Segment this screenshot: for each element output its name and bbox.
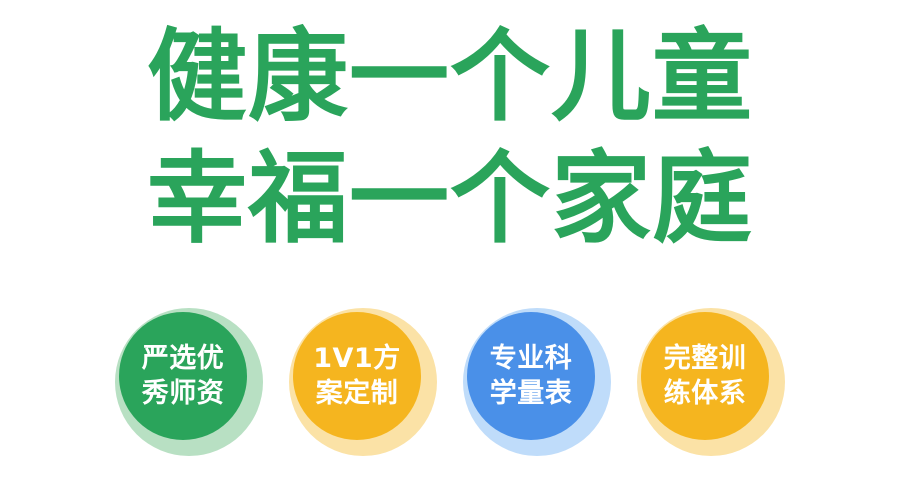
badge-label-plan: 1V1方 案定制 bbox=[313, 341, 400, 411]
feature-badge-row: 严选优 秀师资 1V1方 案定制 专业科 学量表 bbox=[0, 308, 900, 464]
badge-scale[interactable]: 专业科 学量表 bbox=[463, 308, 611, 456]
promo-banner: 健康一个儿童 幸福一个家庭 严选优 秀师资 1V1方 案定制 bbox=[0, 0, 900, 504]
badge-teachers[interactable]: 严选优 秀师资 bbox=[115, 308, 263, 456]
badge-label-teachers-line-1: 严选优 bbox=[142, 341, 225, 376]
badge-disc-scale: 专业科 学量表 bbox=[467, 312, 595, 440]
badge-disc-training: 完整训 练体系 bbox=[641, 312, 769, 440]
badge-label-training-line-2: 练体系 bbox=[664, 376, 747, 411]
badge-training[interactable]: 完整训 练体系 bbox=[637, 308, 785, 456]
badge-label-training-line-1: 完整训 bbox=[664, 341, 747, 376]
badge-label-teachers-line-2: 秀师资 bbox=[142, 376, 225, 411]
headline-line-2: 幸福一个家庭 bbox=[0, 140, 900, 258]
badge-label-plan-line-2: 案定制 bbox=[313, 376, 400, 411]
badge-plan[interactable]: 1V1方 案定制 bbox=[289, 308, 437, 456]
badge-disc-plan: 1V1方 案定制 bbox=[293, 312, 421, 440]
badge-label-plan-line-1: 1V1方 bbox=[313, 341, 400, 376]
badge-label-teachers: 严选优 秀师资 bbox=[142, 341, 225, 411]
badge-disc-teachers: 严选优 秀师资 bbox=[119, 312, 247, 440]
headline-line-1: 健康一个儿童 bbox=[0, 18, 900, 136]
badge-label-scale: 专业科 学量表 bbox=[490, 341, 573, 411]
badge-label-scale-line-2: 学量表 bbox=[490, 376, 573, 411]
badge-label-scale-line-1: 专业科 bbox=[490, 341, 573, 376]
badge-label-training: 完整训 练体系 bbox=[664, 341, 747, 411]
headline-block: 健康一个儿童 幸福一个家庭 bbox=[0, 18, 900, 258]
